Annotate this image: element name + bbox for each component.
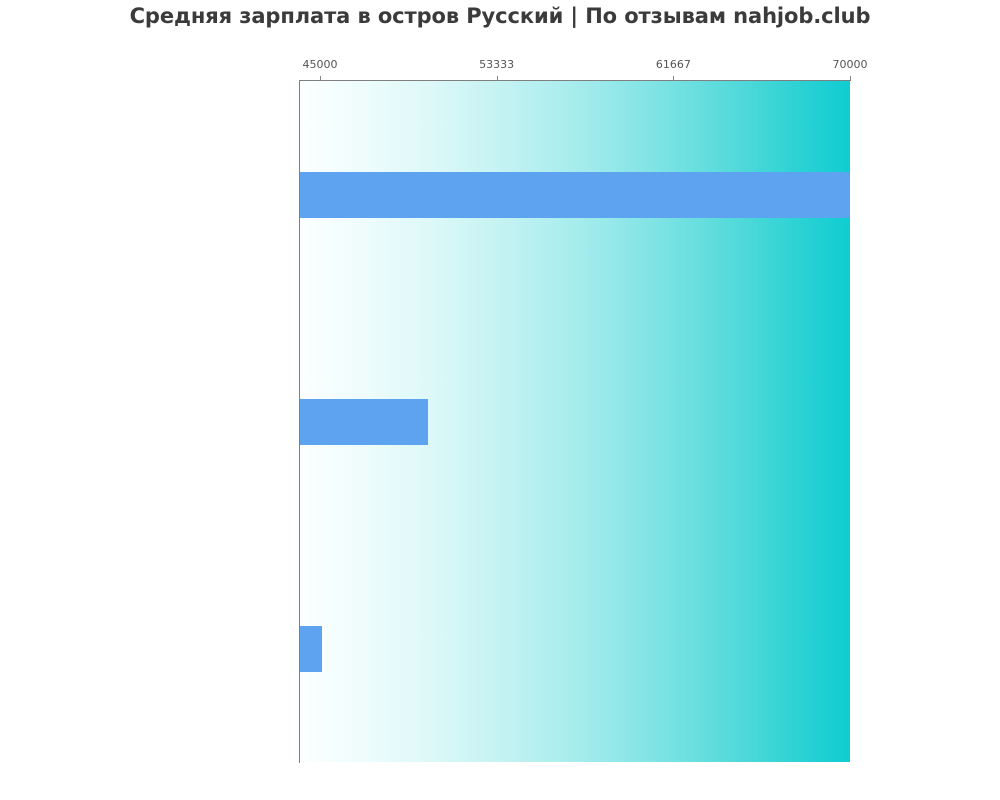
x-tick-mark — [850, 76, 851, 81]
x-tick-label: 53333 — [479, 58, 514, 71]
x-tick-label: 61667 — [656, 58, 691, 71]
x-tick-label: 45000 — [302, 58, 337, 71]
bar[interactable] — [300, 399, 428, 445]
x-tick-label: 70000 — [833, 58, 868, 71]
x-tick-mark — [320, 76, 321, 81]
bar[interactable] — [300, 172, 850, 218]
x-axis-line — [299, 80, 850, 81]
x-tick-mark — [673, 76, 674, 81]
plot-area: 45000533336166770000 — [300, 81, 850, 762]
page-title: Средняя зарплата в остров Русский | По о… — [0, 0, 1000, 32]
x-tick-mark — [497, 76, 498, 81]
bar[interactable] — [300, 626, 322, 672]
